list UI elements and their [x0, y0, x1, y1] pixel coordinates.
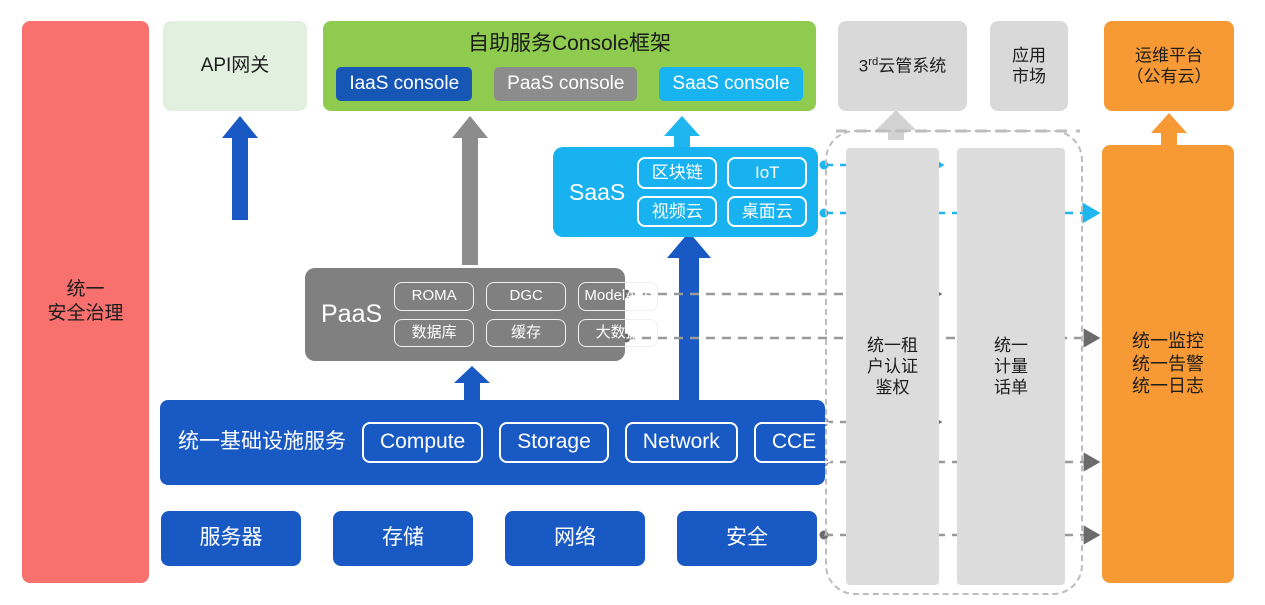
infra-chip-network[interactable]: Network [625, 422, 738, 462]
resource-box-security[interactable]: 安全 [677, 511, 817, 566]
resource-box-network[interactable]: 网络 [505, 511, 645, 566]
saas-chip-blockchain[interactable]: 区块链 [637, 157, 717, 188]
saas-chip-video-cloud[interactable]: 视频云 [637, 196, 717, 227]
arrow-infra-to-paas [454, 366, 490, 400]
saas-chip-iot[interactable]: IoT [727, 157, 807, 188]
saas-console-pill[interactable]: SaaS console [659, 67, 802, 101]
ops-panel-line2: 统一告警 [1132, 353, 1204, 376]
app-market-box[interactable]: 应用 市场 [990, 21, 1068, 111]
saas-chip-desktop-cloud[interactable]: 桌面云 [727, 196, 807, 227]
arrow-to-ops-platform [1151, 113, 1187, 145]
paas-chip-dgc[interactable]: DGC [486, 282, 566, 311]
arrow-paas-to-console [452, 116, 488, 265]
resource-label-network: 网络 [554, 525, 596, 551]
third-party-cloud-mgmt-box[interactable]: 3rd云管系统 [838, 21, 967, 111]
unified-ops-panel: 统一监控 统一告警 统一日志 [1102, 145, 1234, 583]
metering-line2: 计量 [994, 356, 1028, 377]
unified-security-governance-panel: 统一 安全治理 [22, 21, 149, 583]
saas-label: SaaS [569, 178, 625, 207]
paas-chip-grid: ROMA DGC ModelArts 数据库 缓存 大数据 [394, 282, 658, 348]
ops-panel-line1: 统一监控 [1132, 330, 1204, 353]
unified-infrastructure-bar: 统一基础设施服务 Compute Storage Network CCE [160, 400, 825, 485]
paas-console-pill[interactable]: PaaS console [494, 67, 637, 101]
unified-infrastructure-label: 统一基础设施服务 [178, 429, 346, 455]
vertical-bar-unified-metering[interactable]: 统一 计量 话单 [957, 148, 1065, 585]
paas-chip-bigdata[interactable]: 大数据 [578, 319, 658, 348]
app-market-line1: 应用 [1012, 45, 1046, 66]
api-gateway-label: API网关 [201, 54, 270, 78]
paas-chip-roma[interactable]: ROMA [394, 282, 474, 311]
paas-chip-modelarts[interactable]: ModelArts [578, 282, 658, 311]
console-pill-row: IaaS console PaaS console SaaS console [336, 67, 802, 101]
ops-platform-top-line2: （公有云） [1127, 66, 1212, 87]
infra-chip-compute[interactable]: Compute [362, 422, 483, 462]
resource-box-storage[interactable]: 存储 [333, 511, 473, 566]
saas-block: SaaS 区块链 IoT 视频云 桌面云 [553, 147, 818, 237]
console-framework-title: 自助服务Console框架 [468, 31, 671, 57]
auth-line2: 户认证 [867, 356, 918, 377]
saas-chip-grid: 区块链 IoT 视频云 桌面云 [637, 157, 807, 227]
third-party-sup: rd [868, 56, 878, 68]
app-market-line2: 市场 [1012, 66, 1046, 87]
resource-label-server: 服务器 [200, 525, 263, 551]
metering-line3: 话单 [994, 377, 1028, 398]
infra-chip-storage[interactable]: Storage [499, 422, 609, 462]
ops-panel-line3: 统一日志 [1132, 375, 1204, 398]
auth-line1: 统一租 [867, 335, 918, 356]
paas-label: PaaS [321, 299, 382, 330]
paas-block: PaaS ROMA DGC ModelArts 数据库 缓存 大数据 [305, 268, 625, 361]
third-party-suffix: 云管系统 [878, 57, 946, 76]
arrow-infra-to-apigw [222, 116, 258, 220]
auth-line3: 鉴权 [876, 377, 910, 398]
paas-chip-cache[interactable]: 缓存 [486, 319, 566, 348]
resource-box-server[interactable]: 服务器 [161, 511, 301, 566]
paas-chip-database[interactable]: 数据库 [394, 319, 474, 348]
arrow-saas-to-console [664, 116, 700, 150]
ops-platform-top-line1: 运维平台 [1135, 45, 1203, 66]
console-framework-box: 自助服务Console框架 IaaS console PaaS console … [323, 21, 816, 111]
iaas-console-pill[interactable]: IaaS console [336, 67, 472, 101]
unified-security-line2: 安全治理 [47, 302, 123, 326]
ops-platform-top-box[interactable]: 运维平台 （公有云） [1104, 21, 1234, 111]
architecture-diagram: 统一 安全治理 API网关 自助服务Console框架 IaaS console… [0, 0, 1265, 605]
infra-chip-cce[interactable]: CCE [754, 422, 834, 462]
api-gateway-box[interactable]: API网关 [163, 21, 307, 111]
unified-security-line1: 统一 [66, 278, 104, 302]
third-party-prefix: 3 [859, 57, 868, 76]
arrow-infra-to-saas [667, 232, 711, 400]
third-party-label: 3rd云管系统 [859, 55, 946, 77]
vertical-bar-unified-tenant-auth[interactable]: 统一租 户认证 鉴权 [846, 148, 939, 585]
metering-line1: 统一 [994, 335, 1028, 356]
resource-label-storage: 存储 [382, 525, 424, 551]
resource-label-security: 安全 [726, 525, 768, 551]
